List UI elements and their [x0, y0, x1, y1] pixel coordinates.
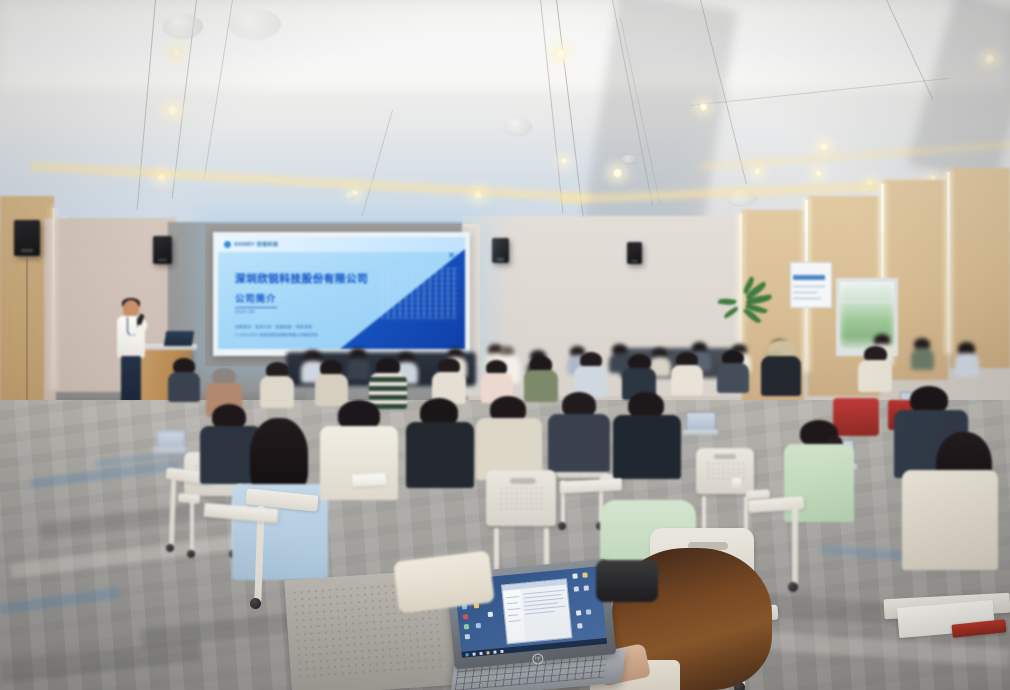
slide-date: 2024.08	[235, 309, 255, 314]
presentation-slide: SHINRY 欣锐科技 ✕ 深圳欣锐科技股份有限公司 公司简介 2024.08 …	[218, 237, 465, 349]
taskbar-icon	[493, 650, 496, 653]
wall-speaker	[14, 220, 40, 256]
downlight	[818, 142, 830, 151]
desktop-icon	[582, 572, 587, 577]
carpet-pattern	[760, 631, 1010, 666]
desktop-icon	[572, 573, 577, 578]
ceiling-detector	[622, 155, 636, 163]
desktop-icon	[584, 585, 589, 590]
poster-line	[793, 298, 821, 299]
slide-subtitle: 公司简介	[235, 291, 276, 305]
product-image	[381, 267, 459, 319]
downlight	[611, 168, 624, 178]
window-titlebar[interactable]	[502, 580, 566, 591]
slide-footer-line-2: © 2003-2024 深圳欣锐科技股份有限公司版权所有	[235, 332, 318, 337]
taskbar-icon	[486, 651, 489, 654]
wall-led-strip	[52, 208, 55, 388]
paper-cup	[732, 478, 741, 489]
ceiling-speaker-dome	[229, 9, 281, 39]
carpet-accent	[0, 587, 120, 616]
projection-screen: SHINRY 欣锐科技 ✕ 深圳欣锐科技股份有限公司 公司简介 2024.08 …	[213, 232, 470, 356]
paper-sheet	[352, 473, 387, 487]
downlight	[698, 103, 709, 111]
ceiling-speaker-dome	[504, 118, 532, 135]
desktop-icon	[463, 614, 468, 619]
downlight	[553, 48, 569, 60]
conference-room-photo: SHINRY 欣锐科技 ✕ 深圳欣锐科技股份有限公司 公司简介 2024.08 …	[0, 0, 1010, 690]
lectern-laptop	[164, 331, 194, 346]
downlight	[753, 168, 762, 175]
poster-bar	[793, 275, 825, 280]
downlight	[983, 54, 996, 64]
poster-line	[793, 292, 817, 293]
company-logo-icon	[224, 241, 231, 248]
wall-speaker	[492, 238, 509, 263]
downlight	[814, 170, 823, 177]
taskbar-icon	[472, 652, 475, 655]
poster-line	[793, 286, 825, 287]
taskbar-start-icon	[465, 653, 468, 656]
desktop-icon	[586, 609, 591, 614]
slide-company-title: 深圳欣锐科技股份有限公司	[235, 271, 368, 286]
carpet-pattern	[0, 640, 201, 683]
dark-bag	[596, 560, 658, 602]
carpet-pattern	[10, 536, 240, 578]
ceiling-speaker-dome	[163, 14, 203, 38]
slide-logo-text: SHINRY 欣锐科技	[234, 241, 278, 248]
slide-divider	[235, 307, 277, 308]
red-jacket-on-chair	[833, 398, 879, 436]
open-window[interactable]	[501, 578, 572, 644]
ceiling-detector	[344, 192, 356, 199]
desktop-icon	[576, 610, 581, 615]
window-mullion	[838, 300, 896, 303]
wall-poster	[790, 262, 832, 308]
downlight	[169, 48, 183, 58]
desktop-icon	[465, 634, 470, 639]
wall-speaker	[627, 242, 642, 264]
desktop-icon	[577, 623, 582, 628]
downlight	[560, 158, 568, 164]
desktop-icon	[488, 612, 493, 617]
desktop-icon	[464, 624, 469, 629]
desktop-icon	[574, 586, 579, 591]
downlight	[165, 105, 180, 116]
slide-footer-line-1: 创新驱动 · 技术引领 · 智能制造 · 绿色低碳	[235, 325, 312, 330]
taskbar-icon	[500, 649, 503, 652]
wood-wall-panel	[950, 168, 1010, 368]
wall-speaker	[153, 236, 172, 264]
desktop-icon	[476, 623, 481, 628]
taskbar-icon	[479, 651, 482, 654]
wall-led-strip	[947, 172, 950, 352]
potted-plant	[726, 276, 770, 346]
